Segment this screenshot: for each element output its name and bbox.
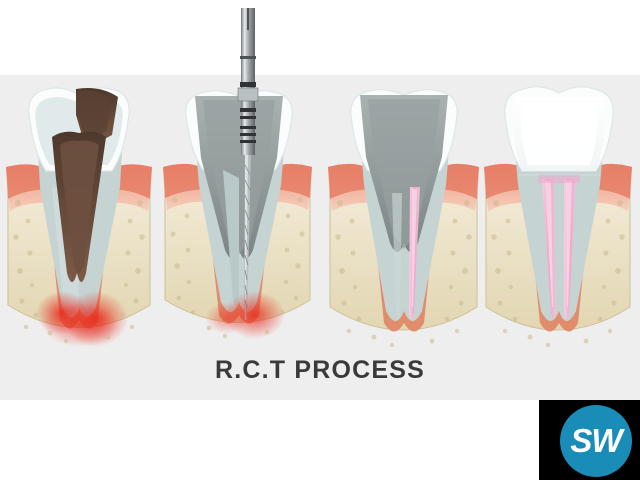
screenshot-root: R.C.T PROCESS SW	[0, 0, 640, 480]
tooth-diagram-2	[155, 0, 325, 400]
apical-infection	[36, 291, 128, 347]
stage-canal-filling	[322, 75, 482, 400]
watermark-circle: SW	[560, 405, 632, 477]
stage-canal-instrumentation	[155, 0, 315, 400]
stage-restored-tooth	[478, 75, 638, 400]
watermark-logo: SW	[539, 400, 640, 480]
page-title: R.C.T PROCESS	[0, 356, 640, 385]
tooth-diagram-1	[0, 75, 160, 400]
tooth-diagram-3	[322, 75, 487, 400]
tooth-diagram-4	[478, 75, 640, 400]
watermark-label: SW	[560, 405, 632, 477]
crown-restoration-filling	[513, 97, 605, 175]
stage-infected-tooth	[0, 75, 160, 400]
